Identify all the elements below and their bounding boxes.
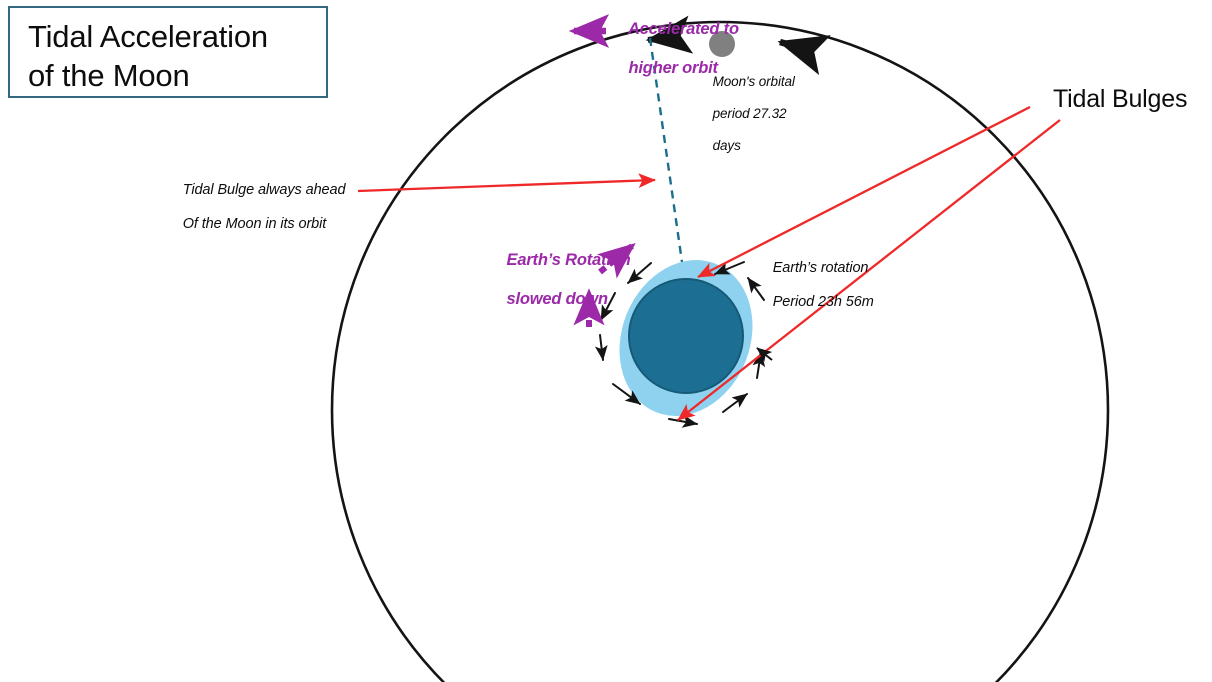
moon-period-line2: period 27.32 [713, 106, 787, 121]
tidal-bulge-ahead-label: Tidal Bulge always ahead Of the Moon in … [167, 165, 345, 251]
rotation-arrow-7 [723, 394, 747, 412]
moon-period-label: Moon's orbital period 27.32 days [698, 58, 795, 169]
diagram-canvas: Tidal Accelerationof the Moon Accelerate… [0, 0, 1212, 682]
orbit-direction-arrow-right [780, 42, 804, 49]
rotation-arrow-2 [628, 263, 651, 283]
tidal-bulge-ahead-line1: Tidal Bulge always ahead [183, 182, 346, 198]
rotation-arrow-6 [669, 419, 697, 424]
earth-body [629, 279, 743, 393]
title-box: Tidal Accelerationof the Moon [8, 6, 328, 98]
diagram-graphics [0, 0, 1212, 682]
tidal-bulge-ahead-line2: Of the Moon in its orbit [183, 216, 326, 232]
earth-rotation-slowed-line1: Earth’s Rotation [507, 251, 631, 269]
earth-rotation-slowed-label: Earth’s Rotation slowed down [489, 232, 630, 329]
tidal-bulges-label: Tidal Bulges [1053, 85, 1187, 115]
moon-period-line3: days [713, 138, 741, 153]
page-title-line1: Tidal Acceleration [28, 19, 268, 54]
earth-rotation-period-line1: Earth’s rotation [773, 260, 869, 276]
page-title: Tidal Accelerationof the Moon [28, 18, 268, 96]
earth-rotation-period-line2: Period 23h 56m [773, 294, 874, 310]
earth-rotation-slowed-line2: slowed down [507, 290, 608, 308]
earth-rotation-period-label: Earth’s rotation Period 23h 56m [757, 243, 874, 329]
moon-period-line1: Moon's orbital [713, 74, 795, 89]
accelerated-label-line1: Accelerated to [628, 20, 739, 38]
page-title-line2: of the Moon [28, 58, 190, 93]
rotation-arrow-4 [600, 335, 603, 360]
